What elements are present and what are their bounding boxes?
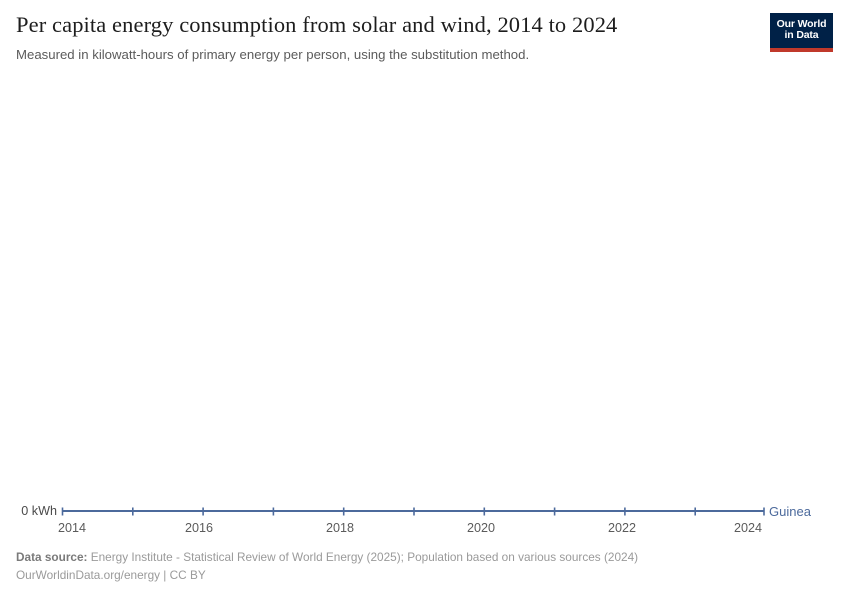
plot-area: 0 kWh Guinea 2014 2016 2018 2020 2022 20… [0,76,850,536]
x-tick-2022: 2022 [608,521,636,535]
chart-svg: 0 kWh Guinea 2014 2016 2018 2020 2022 20… [0,76,850,536]
x-tick-2024: 2024 [734,521,762,535]
x-tick-2016: 2016 [185,521,213,535]
y-axis-zero-label: 0 kWh [21,504,57,518]
series-label-guinea[interactable]: Guinea [769,504,812,519]
x-tick-2014: 2014 [58,521,86,535]
footer-source-text: Energy Institute - Statistical Review of… [91,550,638,564]
footer-attribution[interactable]: OurWorldinData.org/energy | CC BY [16,566,826,584]
chart-subtitle: Measured in kilowatt-hours of primary en… [16,46,756,63]
chart-footer: Data source: Energy Institute - Statisti… [16,548,826,584]
footer-source-line: Data source: Energy Institute - Statisti… [16,548,826,566]
x-tick-2018: 2018 [326,521,354,535]
footer-source-label: Data source: [16,550,87,564]
owid-logo-line-2: in Data [785,30,819,42]
chart-header: Per capita energy consumption from solar… [16,12,756,63]
series-guinea[interactable] [62,508,764,516]
x-tick-2020: 2020 [467,521,495,535]
owid-logo[interactable]: Our World in Data [770,13,833,52]
owid-chart: Per capita energy consumption from solar… [0,0,850,600]
x-axis-tick-labels: 2014 2016 2018 2020 2022 2024 [58,521,762,535]
page-title: Per capita energy consumption from solar… [16,12,756,38]
